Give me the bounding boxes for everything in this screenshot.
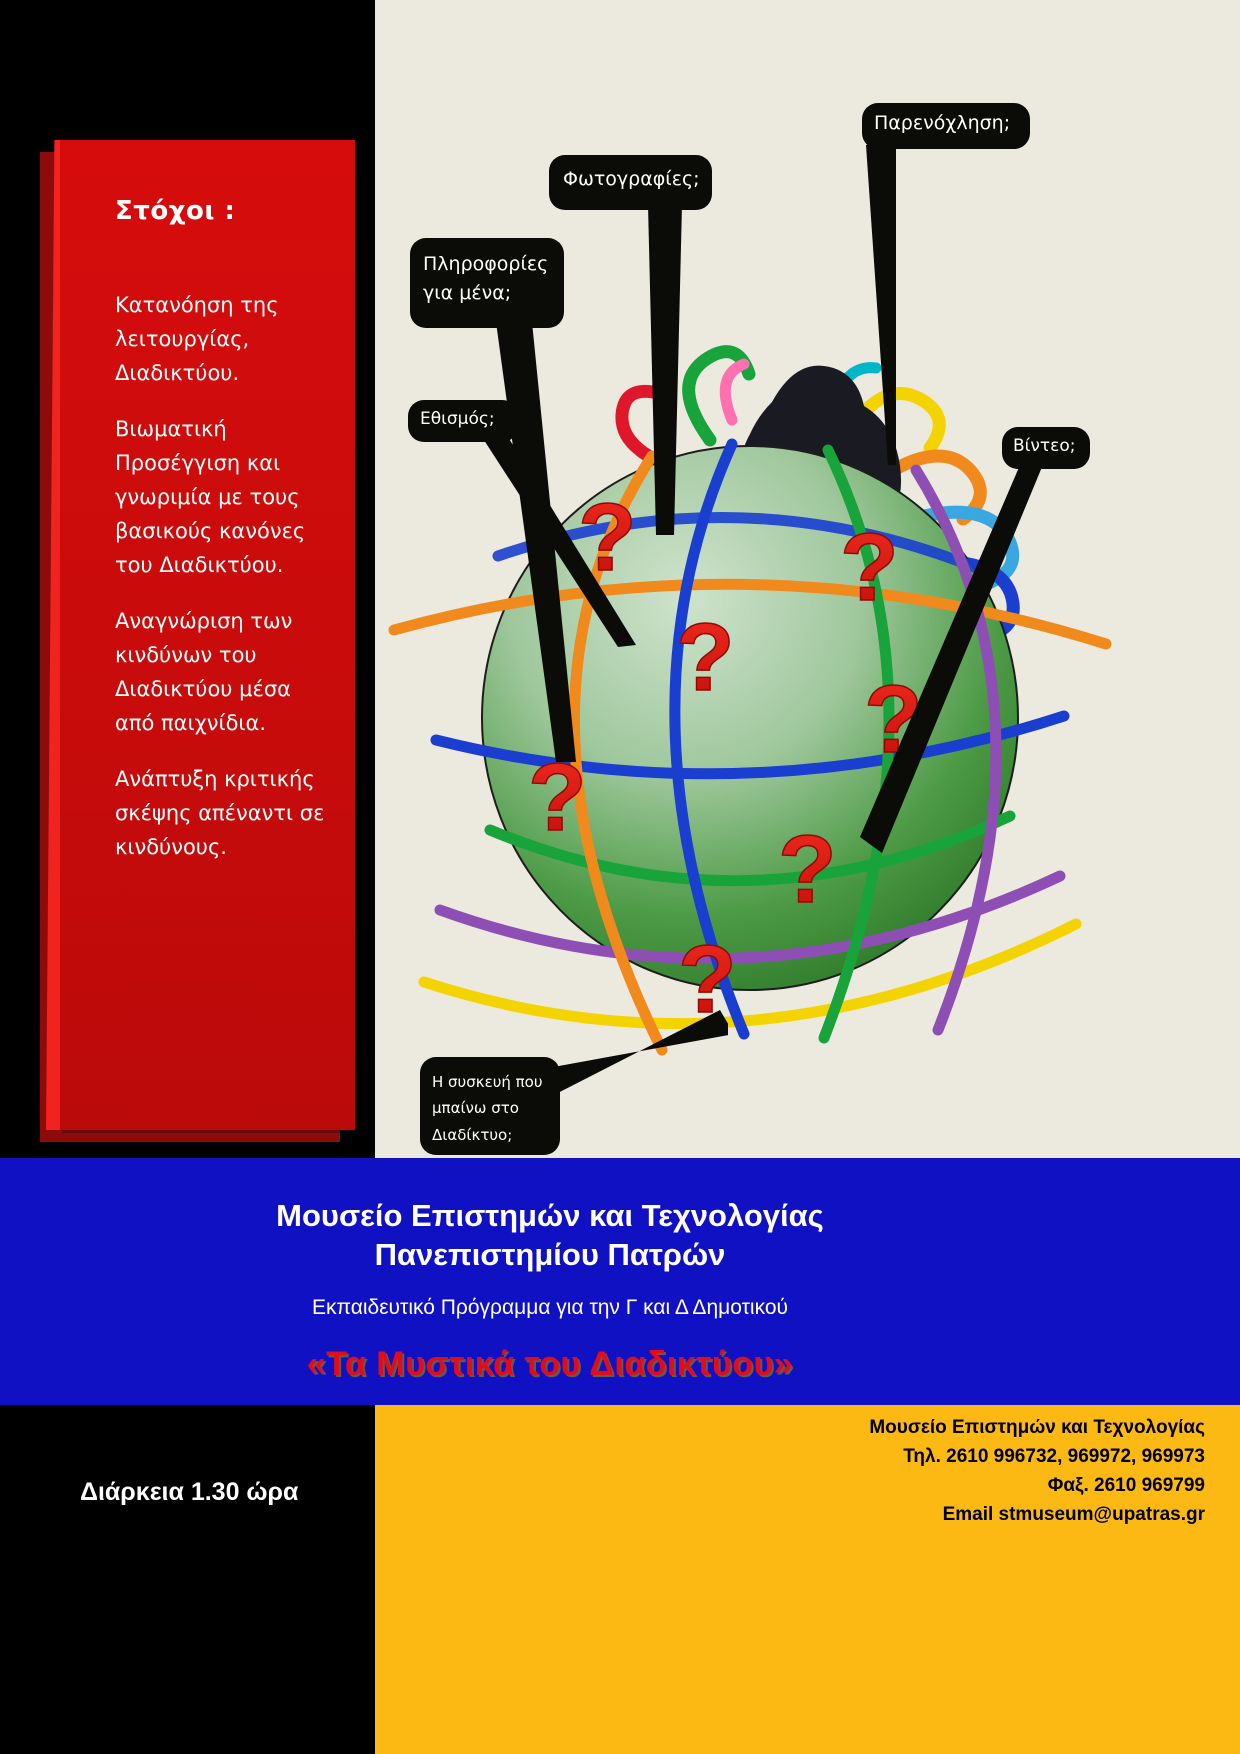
duration-label: Διάρκεια 1.30 ώρα bbox=[80, 1478, 298, 1507]
objective-item: Κατανόηση της λειτουργίας, Διαδικτύου. bbox=[115, 288, 330, 390]
bubble-text-video: Βίντεο; bbox=[1013, 436, 1079, 456]
objective-item: Βιωματική Προσέγγιση και γνωριμία με του… bbox=[115, 412, 330, 582]
program-title: «Τα Μυστικά του Διαδικτύου» bbox=[0, 1345, 1100, 1384]
bubble-text-info-line1: Πληροφορίες bbox=[423, 250, 551, 279]
speech-bubble-addiction: Εθισμός; bbox=[408, 400, 518, 442]
contact-museum-name: Μουσείο Επιστημών και Τεχνολογίας bbox=[375, 1414, 1205, 1443]
contact-fax: Φαξ. 2610 969799 bbox=[375, 1472, 1205, 1501]
contact-phone: Τηλ. 2610 996732, 969972, 969973 bbox=[375, 1443, 1205, 1472]
bubble-text-harassment: Παρενόχληση; bbox=[874, 112, 1018, 134]
objectives-list: Κατανόηση της λειτουργίας, Διαδικτύου. Β… bbox=[115, 288, 330, 886]
speech-bubble-device: Η συσκευή που μπαίνω στο Διαδίκτυο; bbox=[420, 1057, 560, 1155]
bubble-text-info-line2: για μένα; bbox=[423, 279, 551, 308]
objectives-heading: Στόχοι : bbox=[115, 196, 235, 226]
contact-email: Email stmuseum@upatras.gr bbox=[375, 1501, 1205, 1530]
program-subtitle: Εκπαιδευτικό Πρόγραμμα για την Γ και Δ Δ… bbox=[0, 1296, 1100, 1320]
poster-root: Στόχοι : Κατανόηση της λειτουργίας, Διαδ… bbox=[0, 0, 1240, 1754]
bubble-text-device-line2: μπαίνω στο bbox=[432, 1095, 548, 1121]
museum-title: Μουσείο Επιστημών και Τεχνολογίας Πανεπι… bbox=[0, 1196, 1100, 1275]
museum-title-line1: Μουσείο Επιστημών και Τεχνολογίας bbox=[0, 1196, 1100, 1235]
speech-bubble-video: Βίντεο; bbox=[1002, 427, 1090, 469]
globe-illustration: ? ? ? ? ? ? ? bbox=[380, 270, 1120, 1060]
objectives-panel: Στόχοι : Κατανόηση της λειτουργίας, Διαδ… bbox=[60, 140, 355, 1130]
bubble-text-device-line1: Η συσκευή που bbox=[432, 1069, 548, 1095]
globe-question-mark: ? bbox=[840, 514, 899, 621]
bubble-text-photos: Φωτογραφίες; bbox=[563, 168, 698, 190]
speech-bubble-harassment: Παρενόχληση; bbox=[862, 103, 1030, 149]
speech-bubble-photos: Φωτογραφίες; bbox=[549, 155, 712, 210]
contact-details: Μουσείο Επιστημών και Τεχνολογίας Τηλ. 2… bbox=[375, 1414, 1205, 1530]
museum-title-line2: Πανεπιστημίου Πατρών bbox=[0, 1235, 1100, 1274]
objective-item: Αναγνώριση των κινδύνων του Διαδικτύου μ… bbox=[115, 604, 330, 740]
bubble-text-addiction: Εθισμός; bbox=[420, 409, 506, 429]
speech-bubble-info: Πληροφορίες για μένα; bbox=[410, 238, 564, 328]
objective-item: Ανάπτυξη κριτικής σκέψης απέναντι σε κιν… bbox=[115, 762, 330, 864]
globe-question-mark: ? bbox=[676, 604, 735, 711]
globe-question-mark: ? bbox=[778, 816, 837, 923]
bubble-text-device-line3: Διαδίκτυο; bbox=[432, 1122, 548, 1148]
